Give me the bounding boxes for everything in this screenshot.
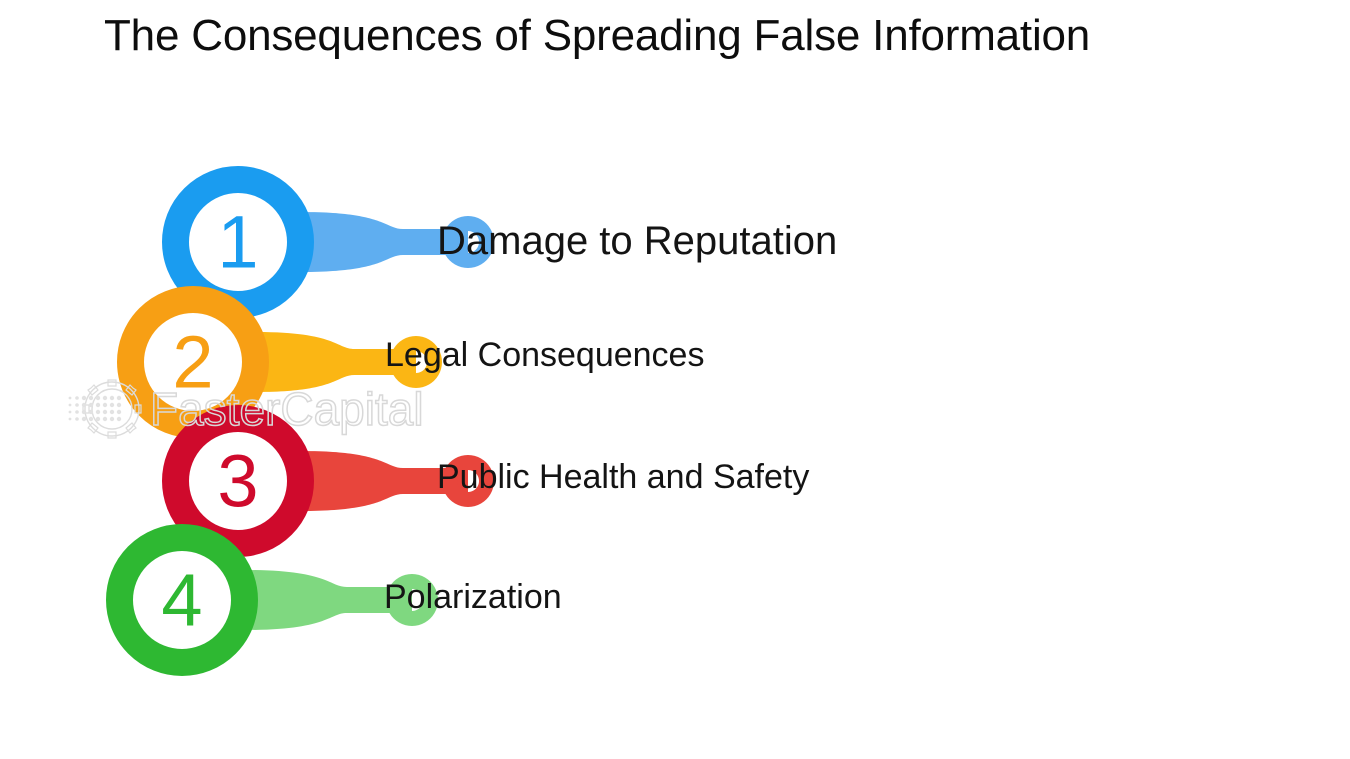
step-number: 4: [161, 559, 202, 642]
step-row[interactable]: 4Polarization: [0, 0, 1350, 759]
step-label: Polarization: [384, 580, 562, 614]
step-marker[interactable]: 4: [0, 0, 1350, 759]
numbered-steps-diagram: 1Damage to Reputation2Legal Consequences…: [0, 0, 1350, 759]
slide-canvas: The Consequences of Spreading False Info…: [0, 0, 1350, 759]
